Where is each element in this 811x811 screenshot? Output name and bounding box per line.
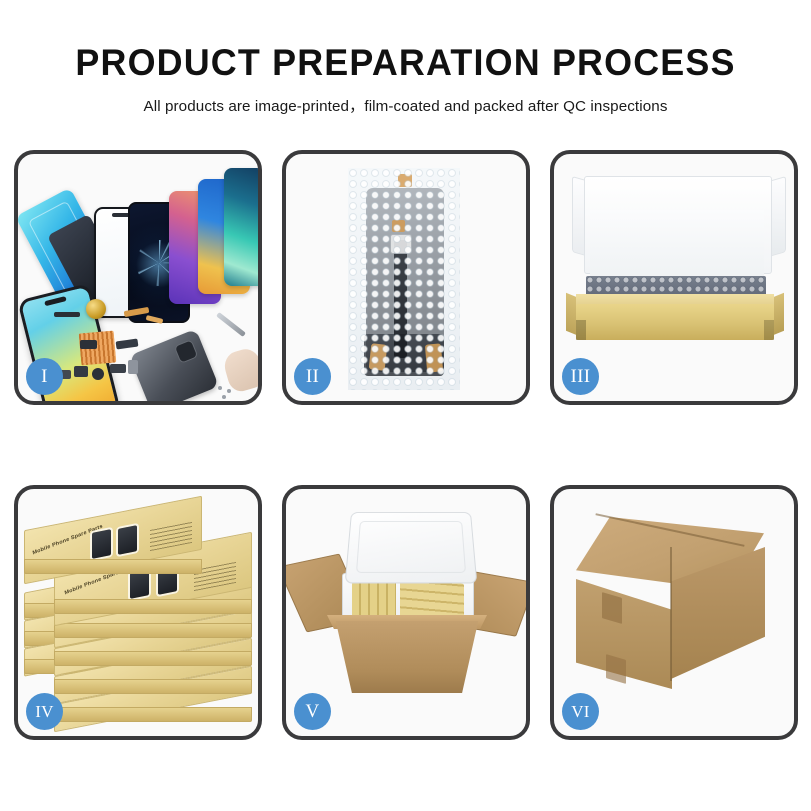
phone-teal-display-icon bbox=[224, 168, 262, 286]
carton-front-edge bbox=[670, 547, 672, 681]
sim-tray-icon bbox=[128, 360, 138, 374]
step-badge-v: V bbox=[294, 693, 331, 730]
dark-strip-icon bbox=[54, 312, 80, 317]
process-steps-grid: I II bbox=[14, 150, 797, 740]
stacked-box-labelled: Mobile Phone Spare Parts bbox=[24, 513, 200, 565]
carton-tape-lower-icon bbox=[606, 654, 626, 684]
box-inner-lining-icon bbox=[590, 210, 764, 286]
camera-module-icon bbox=[110, 364, 126, 373]
carton-body-icon bbox=[326, 621, 488, 693]
step-panel-v[interactable]: V bbox=[282, 485, 530, 740]
step-badge-ii: II bbox=[294, 358, 331, 395]
step-panel-vi[interactable]: VI bbox=[550, 485, 798, 740]
product-preparation-process-infographic: PRODUCT PREPARATION PROCESS All products… bbox=[0, 0, 811, 811]
step-panel-ii[interactable]: II bbox=[282, 150, 530, 405]
connector-icon bbox=[80, 340, 97, 349]
connector-block-icon bbox=[74, 366, 88, 377]
step-panel-iv[interactable]: Mobile Phone Spare Parts Mobile Phone Sp… bbox=[14, 485, 262, 740]
page-title: PRODUCT PREPARATION PROCESS bbox=[12, 44, 799, 83]
screws-icon bbox=[218, 386, 236, 400]
step-panel-i[interactable]: I bbox=[14, 150, 262, 405]
step-badge-i: I bbox=[26, 358, 63, 395]
tweezers-icon bbox=[216, 312, 246, 337]
step-badge-iv: IV bbox=[26, 693, 63, 730]
box-corner-shadow-right bbox=[764, 320, 774, 340]
box-corner-shadow-left bbox=[576, 320, 586, 340]
carton-tape-upper-icon bbox=[602, 592, 622, 624]
gold-coil-icon bbox=[86, 299, 106, 319]
bubble-texture-overlay bbox=[348, 168, 460, 390]
page-subtitle: All products are image-printed，film-coat… bbox=[0, 94, 811, 116]
step-panel-iii[interactable]: III bbox=[550, 150, 798, 405]
box-tray-front-icon bbox=[576, 304, 774, 340]
connector-flat-icon bbox=[116, 339, 139, 350]
step-badge-vi: VI bbox=[562, 693, 599, 730]
header: PRODUCT PREPARATION PROCESS All products… bbox=[0, 0, 811, 116]
step-badge-iii: III bbox=[562, 358, 599, 395]
bubble-wrap-bag-icon bbox=[348, 168, 460, 390]
phone-back-housing-icon bbox=[129, 329, 219, 405]
foam-lid-icon bbox=[345, 512, 478, 583]
speaker-module-icon bbox=[92, 368, 104, 380]
